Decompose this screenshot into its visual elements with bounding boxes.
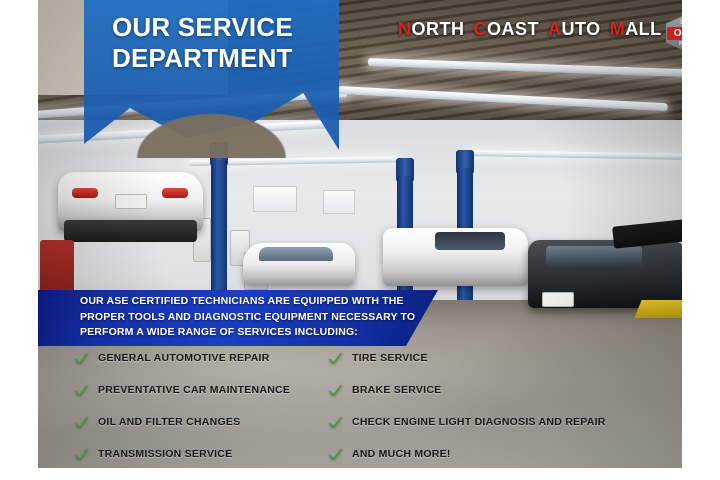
wall-panel-2 bbox=[323, 190, 355, 214]
suv-window bbox=[435, 232, 505, 250]
license-plate-lift-car bbox=[115, 194, 147, 209]
check-icon bbox=[74, 447, 89, 462]
check-icon bbox=[74, 383, 89, 398]
logo-rest-orth: ORTH bbox=[412, 19, 465, 39]
service-label: BRAKE SERVICE bbox=[352, 384, 441, 396]
brand-logo[interactable]: NORTH COAST AUTO MALL bbox=[398, 18, 671, 40]
service-label: CHECK ENGINE LIGHT DIAGNOSIS AND REPAIR bbox=[352, 416, 606, 428]
service-department-ad: OUR SERVICE DEPARTMENT NORTH COAST AUTO … bbox=[38, 0, 682, 468]
service-label: AND MUCH MORE! bbox=[352, 448, 451, 460]
copy-line-3: PERFORM A WIDE RANGE OF SERVICES INCLUDI… bbox=[80, 325, 430, 341]
yellow-ramp bbox=[634, 300, 682, 318]
list-item: PREVENTATIVE CAR MAINTENANCE bbox=[74, 380, 324, 400]
badge-top-text: STOP bbox=[680, 20, 682, 26]
check-icon bbox=[328, 447, 343, 462]
service-label: PREVENTATIVE CAR MAINTENANCE bbox=[98, 384, 290, 396]
services-list: GENERAL AUTOMOTIVE REPAIR TIRE SERVICE P… bbox=[74, 348, 674, 464]
logo-rest-all: ALL bbox=[625, 19, 662, 39]
dark-sedan bbox=[528, 240, 682, 308]
list-item: BRAKE SERVICE bbox=[328, 380, 674, 400]
copy-text: OUR ASE CERTIFIED TECHNICIANS ARE EQUIPP… bbox=[80, 294, 430, 341]
copy-line-1: OUR ASE CERTIFIED TECHNICIANS ARE EQUIPP… bbox=[80, 294, 430, 310]
sedan-windshield bbox=[259, 247, 333, 261]
title-line-1: OUR SERVICE bbox=[112, 12, 293, 42]
logo-word-north: NORTH bbox=[398, 19, 465, 40]
list-item: TIRE SERVICE bbox=[328, 348, 674, 368]
list-item: TRANSMISSION SERVICE bbox=[74, 444, 324, 464]
badge-bottom-text: PAYING bbox=[679, 41, 682, 47]
ad-creative-page: OUR SERVICE DEPARTMENT NORTH COAST AUTO … bbox=[0, 0, 720, 480]
service-label: TIRE SERVICE bbox=[352, 352, 428, 364]
badge-main-text: OVER bbox=[667, 27, 682, 40]
logo-rest-oast: OAST bbox=[487, 19, 539, 39]
logo-cap-c: C bbox=[474, 19, 488, 39]
logo-word-auto: AUTO bbox=[548, 19, 601, 40]
list-item: GENERAL AUTOMOTIVE REPAIR bbox=[74, 348, 324, 368]
logo-word-coast: COAST bbox=[474, 19, 540, 40]
list-item: AND MUCH MORE! bbox=[328, 444, 674, 464]
taillight-right bbox=[162, 188, 188, 198]
service-label: OIL AND FILTER CHANGES bbox=[98, 416, 240, 428]
logo-cap-m: M bbox=[610, 19, 626, 39]
page-title: OUR SERVICE DEPARTMENT bbox=[112, 12, 342, 73]
logo-word-mall: MALL bbox=[610, 19, 662, 40]
car-on-lift bbox=[58, 172, 203, 232]
taillight-left bbox=[72, 188, 98, 198]
check-icon bbox=[328, 415, 343, 430]
list-item: OIL AND FILTER CHANGES bbox=[74, 412, 324, 432]
check-icon bbox=[328, 351, 343, 366]
check-icon bbox=[74, 415, 89, 430]
license-plate-dark-car bbox=[542, 292, 574, 307]
white-suv bbox=[383, 228, 528, 286]
title-line-2: DEPARTMENT bbox=[112, 43, 342, 74]
service-label: TRANSMISSION SERVICE bbox=[98, 448, 232, 460]
logo-cap-n: N bbox=[398, 19, 412, 39]
wall-panel-1 bbox=[253, 186, 297, 212]
list-item: CHECK ENGINE LIGHT DIAGNOSIS AND REPAIR bbox=[328, 412, 674, 432]
check-icon bbox=[74, 351, 89, 366]
logo-cap-a: A bbox=[548, 19, 562, 39]
dark-sedan-window bbox=[546, 246, 642, 268]
check-icon bbox=[328, 383, 343, 398]
service-label: GENERAL AUTOMOTIVE REPAIR bbox=[98, 352, 270, 364]
logo-rest-uto: UTO bbox=[562, 19, 601, 39]
copy-line-2: PROPER TOOLS AND DIAGNOSTIC EQUIPMENT NE… bbox=[80, 310, 430, 326]
white-sedan bbox=[243, 243, 355, 285]
stop-overpaying-badge[interactable]: STOP OVER PAYING bbox=[666, 13, 682, 53]
